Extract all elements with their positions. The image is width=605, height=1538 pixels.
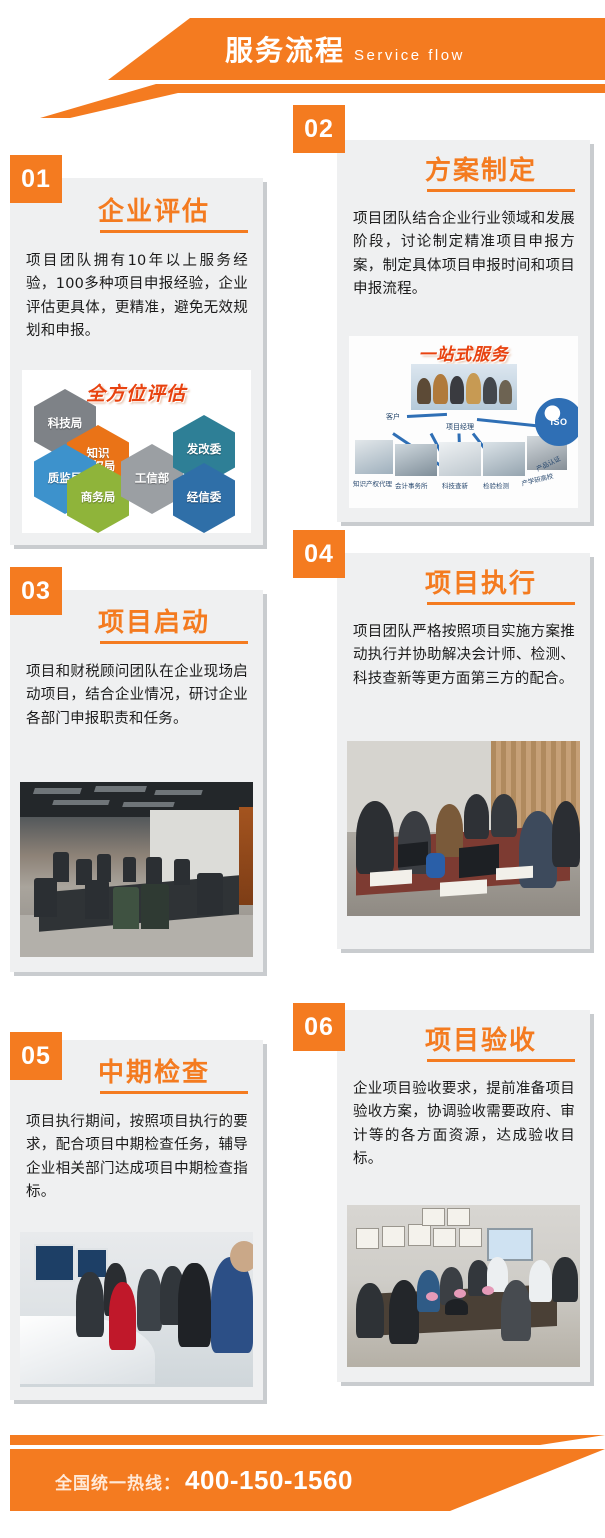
card-body-03: 项目和财税顾问团队在企业现场启动项目，结合企业情况，研讨企业各部门申报职责和任务… — [26, 661, 248, 731]
one-stop-service-label-4: 产学研高校 — [520, 470, 554, 488]
photo-meeting-laptops — [347, 741, 580, 916]
hexagon-diagram: 全方位评估 科技局 知识产权局 质监局 商务局 工信部 发改委 经信委 — [22, 370, 251, 533]
one-stop-service-diagram: 一站式服务 客户 项目经理 ISO — [349, 336, 578, 508]
hotline-label: 全国统一热线： — [55, 1469, 181, 1494]
card-title-rule-05 — [100, 1091, 248, 1094]
arrow-to-right — [477, 418, 539, 427]
one-stop-label-customer: 客户 — [386, 412, 400, 422]
arrow-to-customer — [407, 413, 447, 418]
one-stop-service-label-1: 会计事务所 — [395, 480, 428, 490]
card-title-rule-03 — [100, 641, 248, 644]
page-footer: 全国统一热线： 400-150-1560 — [0, 1413, 605, 1538]
step-card-02: 方案制定 项目团队结合企业行业领域和发展阶段，讨论制定精准项目申报方案，制定具体… — [337, 140, 590, 522]
step-badge-05: 05 — [10, 1032, 62, 1080]
step-card-05: 中期检查 项目执行期间，按照项目执行的要求，配合项目中期检查任务，辅导企业相关部… — [10, 1040, 263, 1400]
card-title-06: 项目验收 — [425, 1020, 537, 1057]
seal-text: ISO — [550, 417, 567, 427]
one-stop-node-search — [439, 442, 481, 476]
card-body-01: 项目团队拥有10年以上服务经验，100多种项目申报经验，企业评估更具体，更精准，… — [26, 250, 248, 344]
one-stop-seal-icon: ISO — [535, 398, 578, 446]
hotline-number: 400-150-1560 — [185, 1465, 353, 1496]
page-title-cn: 服务流程 — [225, 29, 345, 69]
card-title-03: 项目启动 — [98, 602, 210, 639]
step-badge-04: 04 — [293, 530, 345, 578]
card-body-02: 项目团队结合企业行业领域和发展阶段，讨论制定精准项目申报方案，制定具体项目申报时… — [353, 208, 575, 302]
one-stop-service-label-0: 知识产权代理 — [353, 478, 392, 488]
photo-conference-room — [20, 782, 253, 957]
photo-reception-visit — [20, 1232, 253, 1387]
card-body-04: 项目团队严格按照项目实施方案推动执行并协助解决会计师、检测、科技查新等更方面第三… — [353, 621, 575, 691]
one-stop-node-accounting — [395, 444, 437, 476]
card-title-05: 中期检查 — [98, 1052, 210, 1089]
photo-conference-certificates — [347, 1205, 580, 1367]
card-title-rule-04 — [427, 602, 575, 605]
card-title-rule-02 — [427, 189, 575, 192]
step-badge-01: 01 — [10, 155, 62, 203]
card-title-rule-01 — [100, 230, 248, 233]
one-stop-node-testing — [483, 442, 525, 476]
step-badge-02: 02 — [293, 105, 345, 153]
card-body-06: 企业项目验收要求，提前准备项目验收方案，协调验收需要政府、审计等的各方面资源，达… — [353, 1078, 575, 1172]
one-stop-service-label-2: 科技查新 — [442, 480, 468, 490]
hexagon-diagram-title: 全方位评估 — [86, 379, 186, 406]
card-title-02: 方案制定 — [425, 150, 537, 187]
footer-accent-stripe — [10, 1435, 605, 1445]
card-title-01: 企业评估 — [98, 191, 210, 228]
step-card-04: 项目执行 项目团队严格按照项目实施方案推动执行并协助解决会计师、检测、科技查新等… — [337, 553, 590, 949]
one-stop-node-ip — [355, 440, 393, 474]
page-title: 服务流程 Service flow — [225, 29, 465, 69]
card-body-05: 项目执行期间，按照项目执行的要求，配合项目中期检查任务，辅导企业相关部门达成项目… — [26, 1111, 248, 1205]
infographic-page: 服务流程 Service flow 企业评估 项目团队拥有10年以上服务经验，1… — [0, 0, 605, 1538]
card-title-04: 项目执行 — [425, 563, 537, 600]
one-stop-label-manager: 项目经理 — [446, 422, 474, 432]
hotline: 全国统一热线： 400-150-1560 — [55, 1465, 353, 1496]
step-card-01: 企业评估 项目团队拥有10年以上服务经验，100多种项目申报经验，企业评估更具体… — [10, 178, 263, 545]
page-title-en: Service flow — [354, 47, 465, 64]
step-card-06: 项目验收 企业项目验收要求，提前准备项目验收方案，协调验收需要政府、审计等的各方… — [337, 1010, 590, 1382]
step-badge-03: 03 — [10, 567, 62, 615]
step-badge-06: 06 — [293, 1003, 345, 1051]
one-stop-title: 一站式服务 — [419, 340, 509, 365]
one-stop-service-label-3: 检验检测 — [483, 480, 509, 490]
page-header: 服务流程 Service flow — [0, 0, 605, 105]
card-title-rule-06 — [427, 1059, 575, 1062]
one-stop-hero-photo — [411, 364, 517, 410]
step-card-03: 项目启动 项目和财税顾问团队在企业现场启动项目，结合企业情况，研讨企业各部门申报… — [10, 590, 263, 972]
